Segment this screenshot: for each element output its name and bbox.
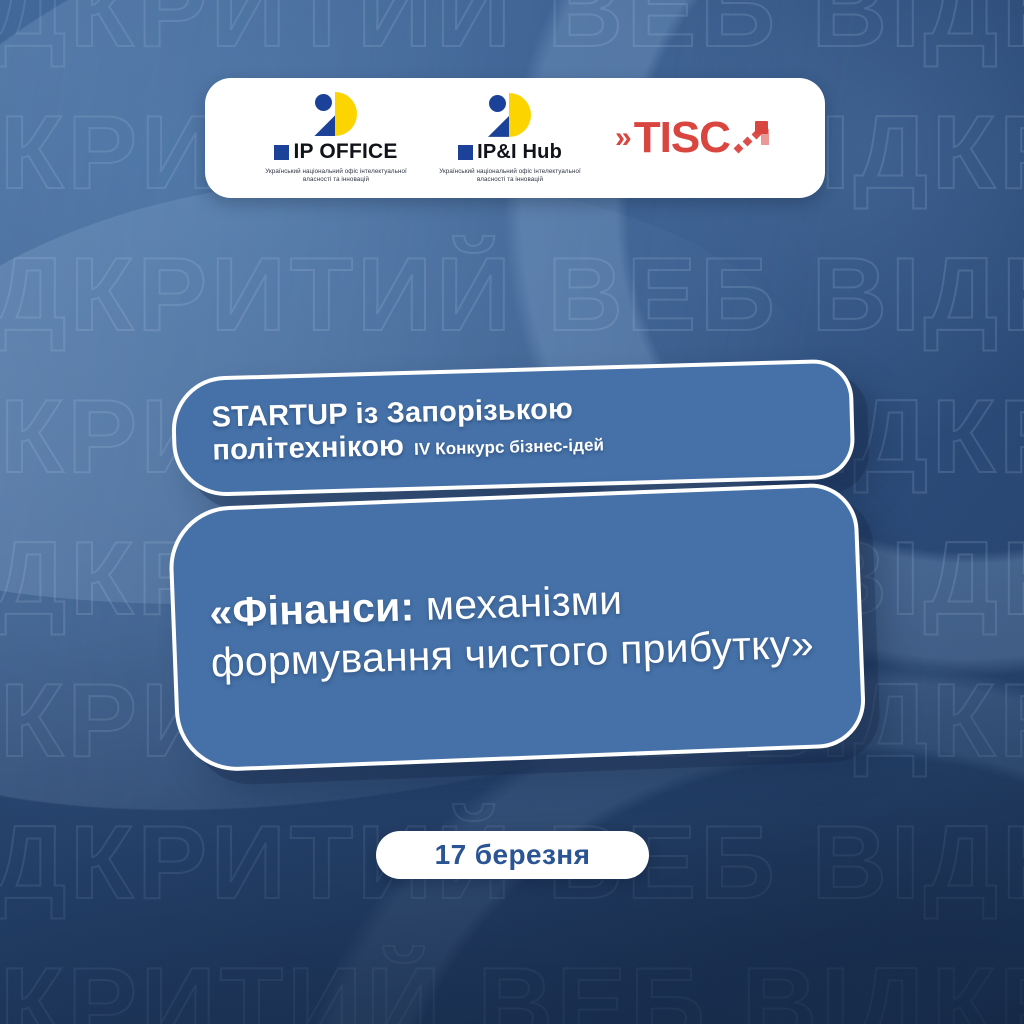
event-poster: ВІДКРИТИЙ ВЕБ ВІДКРИТИЙ ВЕБ ВІДКРИТИЙ ВЕ… [0,0,1024,1024]
ip-and-i-hub-mark-icon [488,93,532,139]
program-title-line2: політехнікою [212,430,404,467]
tisc-chevron-icon: » [615,123,629,153]
logo-ip-office: IP OFFICE Український національний офіс … [261,92,411,183]
event-title-emphasis: «Фінанси: [209,583,415,635]
event-title: «Фінанси: механізми формування чистого п… [209,568,834,687]
program-subtitle-card: STARTUP із Запорізькою політехнікоюIV Ко… [170,359,855,498]
tisc-ascending-arrow-icon [735,119,769,157]
blue-square-icon [274,145,289,160]
logo-ip-and-i-hub: IP&I Hub Український національний офіс і… [435,93,585,183]
ip-office-mark-icon [314,92,358,138]
ip-and-i-hub-wordmark: IP&I Hub [477,141,562,164]
program-contest-note: IV Конкурс бізнес-ідей [414,435,604,458]
event-title-card: «Фінанси: механізми формування чистого п… [167,482,867,773]
blue-square-icon [458,145,473,160]
ip-office-wordmark: IP OFFICE [293,140,397,164]
event-date-pill: 17 березня [376,831,649,879]
ip-and-i-hub-tagline: Український національний офіс інтелектуа… [435,168,585,183]
event-date-label: 17 березня [435,839,591,871]
tisc-wordmark: TISC [634,116,730,160]
ip-office-tagline: Український національний офіс інтелектуа… [261,168,411,183]
partner-logo-bar: IP OFFICE Український національний офіс … [205,78,825,198]
logo-tisc: » TISC [615,116,769,160]
